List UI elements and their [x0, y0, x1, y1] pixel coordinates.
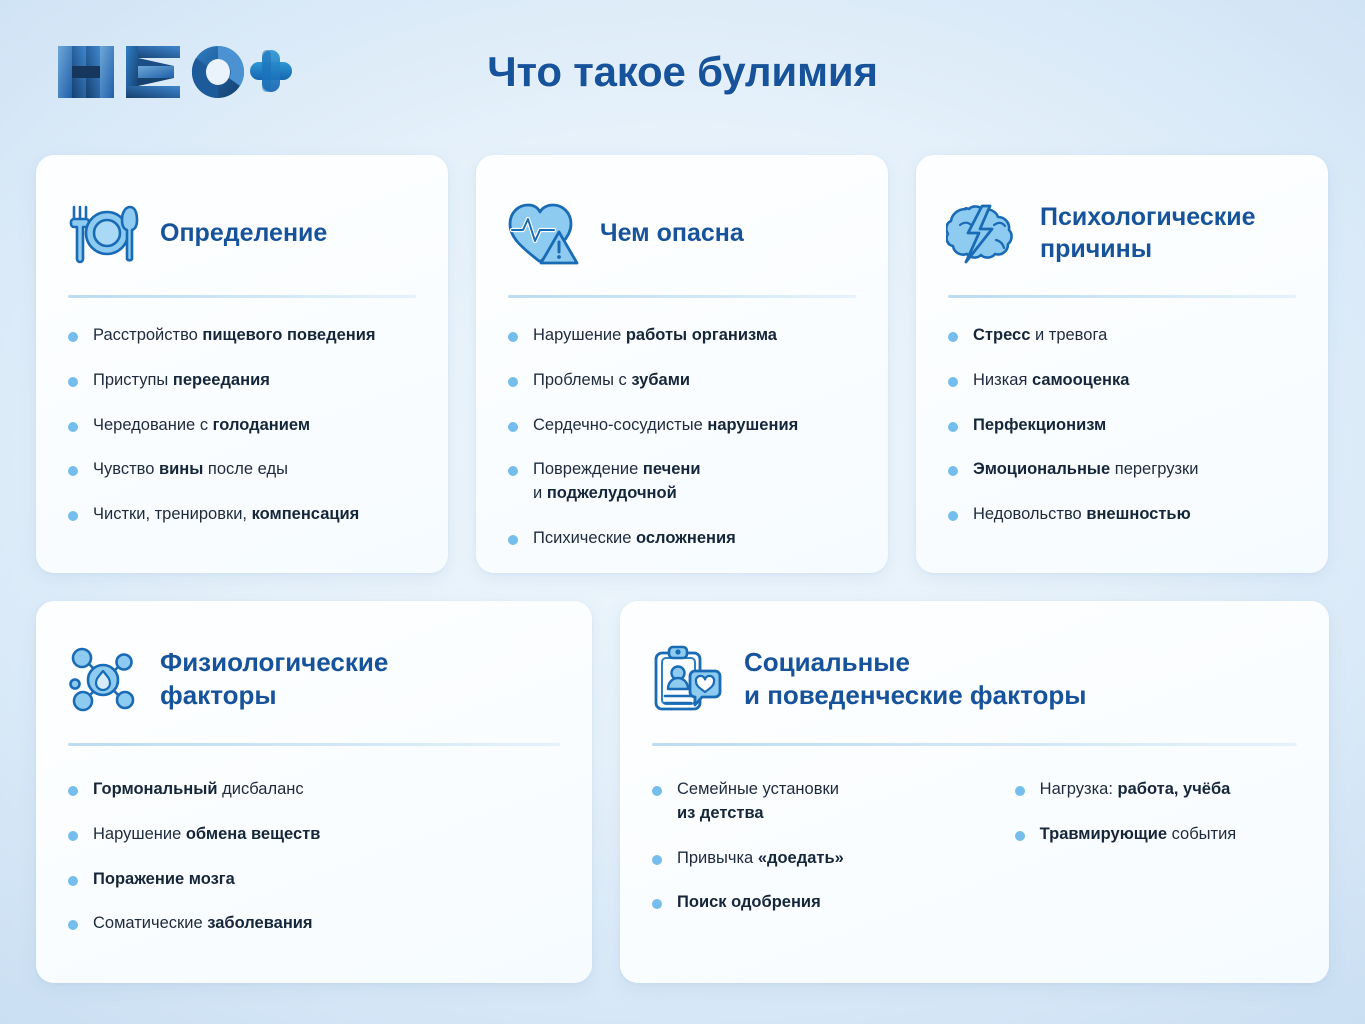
list-item: Чувство вины после еды: [66, 458, 418, 482]
list-item: Травмирующие события: [1013, 823, 1299, 847]
card-header: Социальныеи поведенческие факторы: [650, 631, 1299, 727]
list-item: Поиск одобрения: [650, 891, 971, 915]
cards-grid: Определение Расстройство пищевого поведе…: [36, 155, 1329, 983]
cards-row-top: Определение Расстройство пищевого поведе…: [36, 155, 1329, 573]
card-divider: [652, 743, 1297, 746]
list-item: Недовольство внешностью: [946, 503, 1298, 527]
plate-fork-knife-icon: [66, 196, 140, 270]
card-header: Физиологическиефакторы: [66, 631, 562, 727]
bullet-list: Нарушение работы организмаПроблемы с зуб…: [506, 324, 858, 551]
card-title: Психологическиепричины: [1040, 201, 1256, 265]
card-title: Чем опасна: [600, 217, 744, 249]
list-item: Семейные установкииз детства: [650, 778, 971, 826]
card-divider: [68, 295, 416, 298]
bullet-list-right: Нагрузка: работа, учёбаТравмирующие собы…: [1013, 778, 1299, 915]
card-physiological-factors: Физиологическиефакторы Гормональный дисб…: [36, 601, 592, 983]
list-item: Соматические заболевания: [66, 912, 562, 936]
list-item: Нарушение обмена веществ: [66, 823, 562, 847]
card-header: Психологическиепричины: [946, 185, 1298, 281]
card-psychological-causes: Психологическиепричины Стресс и тревогаН…: [916, 155, 1328, 573]
list-item: Привычка «доедать»: [650, 847, 971, 871]
bullet-list: Стресс и тревогаНизкая самооценкаПерфекц…: [946, 324, 1298, 527]
bullet-columns: Семейные установкииз детстваПривычка «до…: [650, 778, 1299, 915]
list-item: Расстройство пищевого поведения: [66, 324, 418, 348]
list-item: Эмоциональные перегрузки: [946, 458, 1298, 482]
bullet-list: Расстройство пищевого поведенияПриступы …: [66, 324, 418, 527]
list-item: Психические осложнения: [506, 527, 858, 551]
list-item: Нагрузка: работа, учёба: [1013, 778, 1299, 802]
heart-pulse-warning-icon: [506, 196, 580, 270]
page-header: Что такое булимия: [0, 0, 1365, 140]
card-divider: [948, 295, 1296, 298]
list-item: Повреждение печении поджелудочной: [506, 458, 858, 506]
molecule-droplet-icon: [66, 642, 140, 716]
list-item: Нарушение работы организма: [506, 324, 858, 348]
list-item: Приступы переедания: [66, 369, 418, 393]
list-item: Чередование с голоданием: [66, 414, 418, 438]
card-title: Определение: [160, 217, 327, 249]
list-item: Сердечно-сосудистые нарушения: [506, 414, 858, 438]
cards-row-bottom: Физиологическиефакторы Гормональный дисб…: [36, 601, 1329, 983]
card-header: Чем опасна: [506, 185, 858, 281]
page-title: Что такое булимия: [0, 48, 1365, 96]
clipboard-person-heart-icon: [650, 642, 724, 716]
card-social-behavioral-factors: Социальныеи поведенческие факторы Семейн…: [620, 601, 1329, 983]
list-item: Проблемы с зубами: [506, 369, 858, 393]
card-title: Социальныеи поведенческие факторы: [744, 646, 1087, 713]
list-item: Перфекционизм: [946, 414, 1298, 438]
list-item: Чистки, тренировки, компенсация: [66, 503, 418, 527]
card-title: Физиологическиефакторы: [160, 646, 388, 713]
brain-lightning-icon: [946, 196, 1020, 270]
card-definition: Определение Расстройство пищевого поведе…: [36, 155, 448, 573]
list-item: Низкая самооценка: [946, 369, 1298, 393]
card-divider: [508, 295, 856, 298]
card-header: Определение: [66, 185, 418, 281]
bullet-list: Гормональный дисбалансНарушение обмена в…: [66, 778, 562, 936]
list-item: Стресс и тревога: [946, 324, 1298, 348]
card-divider: [68, 743, 560, 746]
bullet-list-left: Семейные установкииз детстваПривычка «до…: [650, 778, 971, 915]
list-item: Гормональный дисбаланс: [66, 778, 562, 802]
card-danger: Чем опасна Нарушение работы организмаПро…: [476, 155, 888, 573]
list-item: Поражение мозга: [66, 868, 562, 892]
